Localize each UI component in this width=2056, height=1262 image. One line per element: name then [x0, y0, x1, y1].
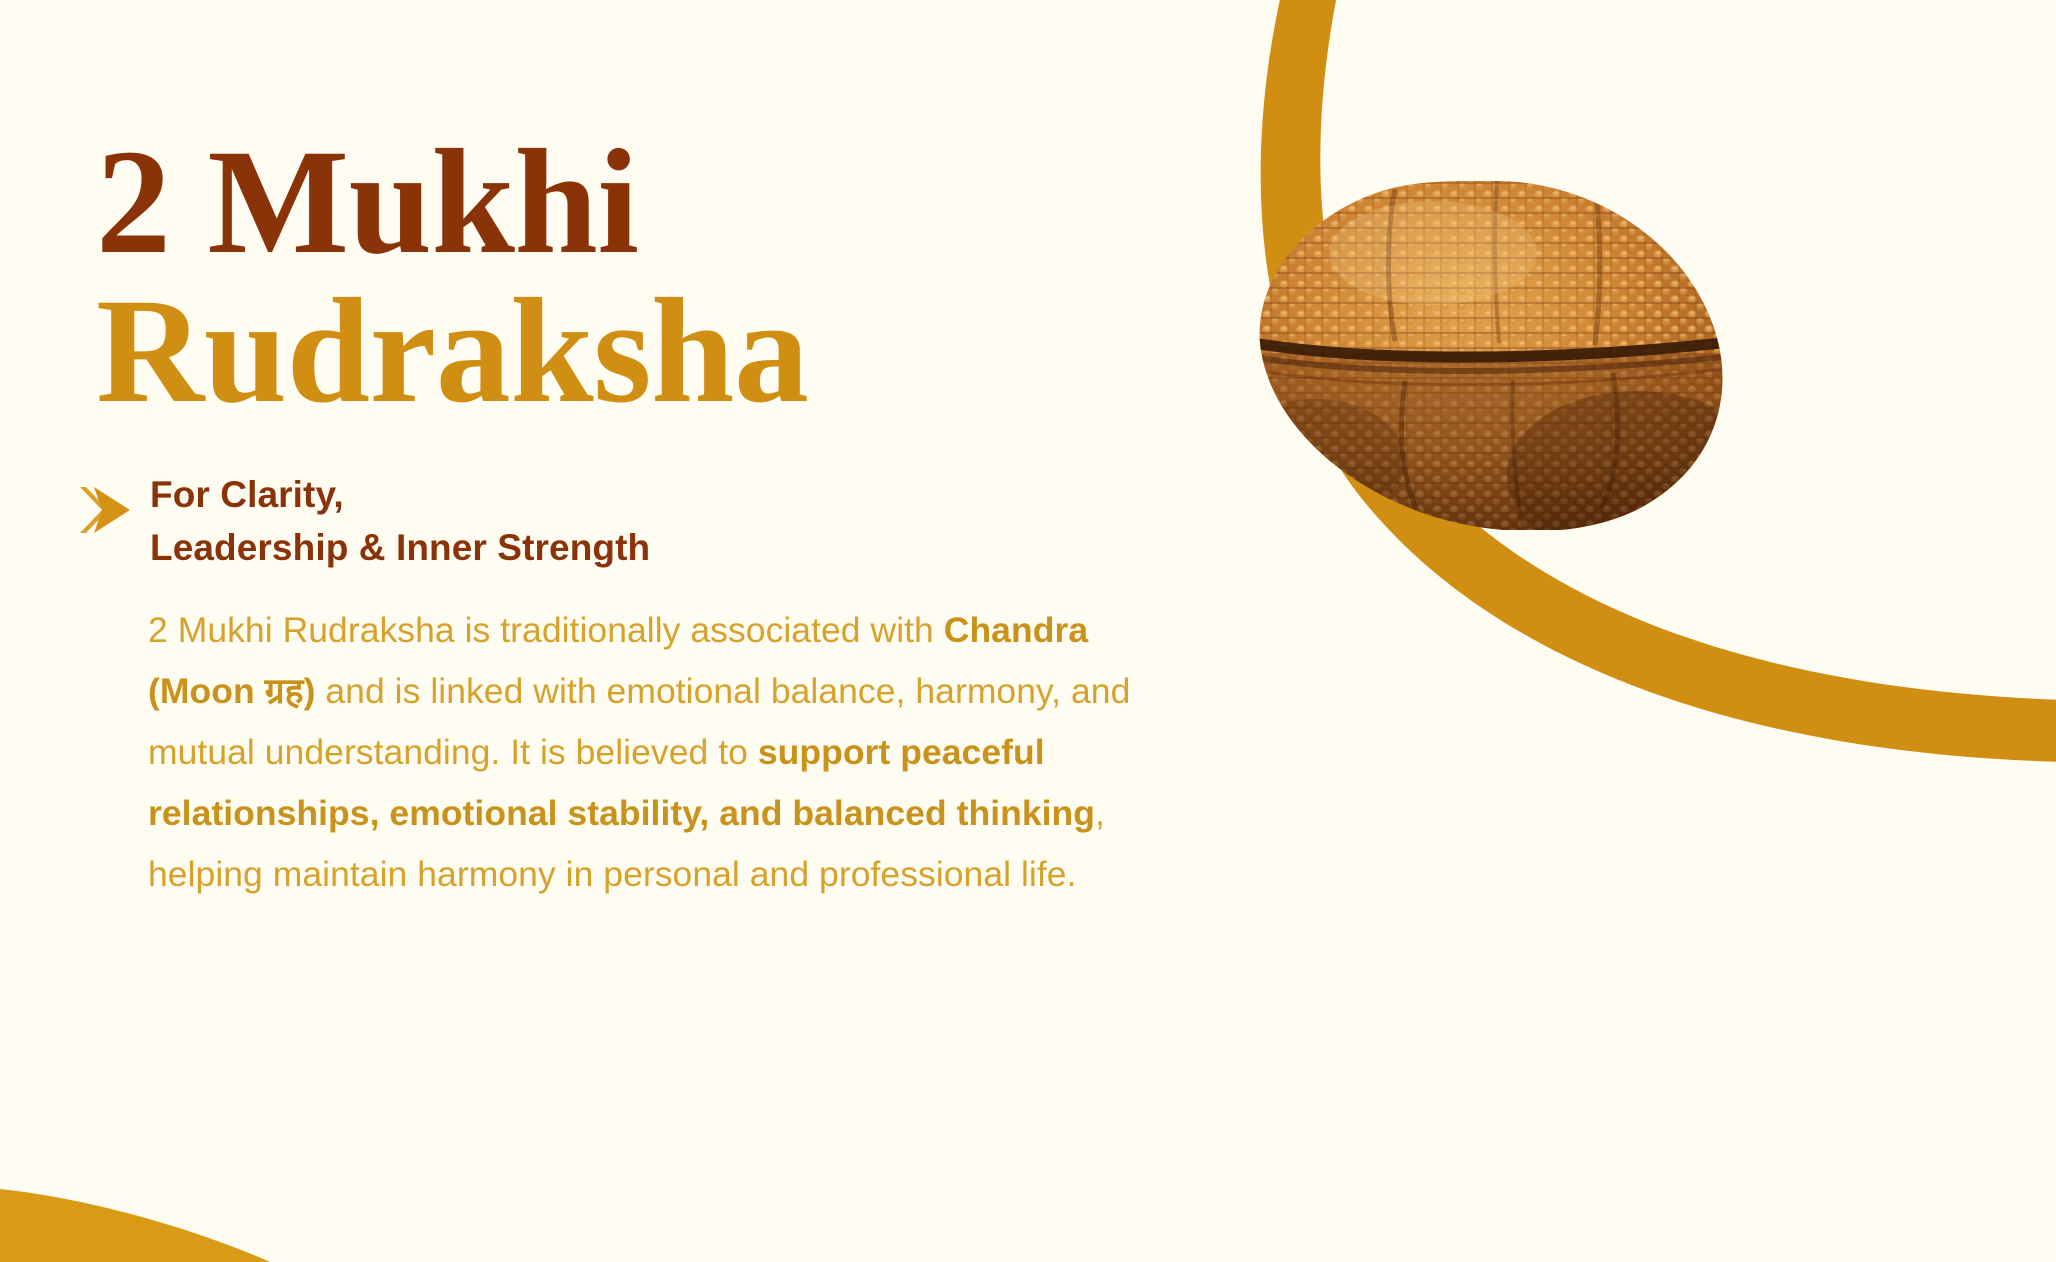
rudraksha-info-slide: 2 Mukhi Rudraksha For Clarity, Leadershi…: [0, 0, 2056, 1262]
body-segment-0: 2 Mukhi Rudraksha is traditionally assoc…: [148, 610, 944, 650]
body-paragraph: 2 Mukhi Rudraksha is traditionally assoc…: [148, 600, 1138, 905]
subtitle-row: For Clarity, Leadership & Inner Strength: [96, 469, 1186, 574]
page-title: 2 Mukhi Rudraksha: [96, 128, 1186, 425]
subtitle-line-1: For Clarity,: [150, 469, 650, 522]
title-line-1: 2 Mukhi: [96, 128, 1186, 277]
gold-arc-bottom-left: [0, 1188, 292, 1262]
rudraksha-bead-image: [1245, 175, 1745, 530]
double-chevron-right-icon: [74, 479, 136, 541]
title-line-2: Rudraksha: [96, 277, 1186, 426]
subtitle-text: For Clarity, Leadership & Inner Strength: [150, 469, 650, 574]
content-column: 2 Mukhi Rudraksha For Clarity, Leadershi…: [96, 128, 1186, 941]
subtitle-line-2: Leadership & Inner Strength: [150, 522, 650, 575]
